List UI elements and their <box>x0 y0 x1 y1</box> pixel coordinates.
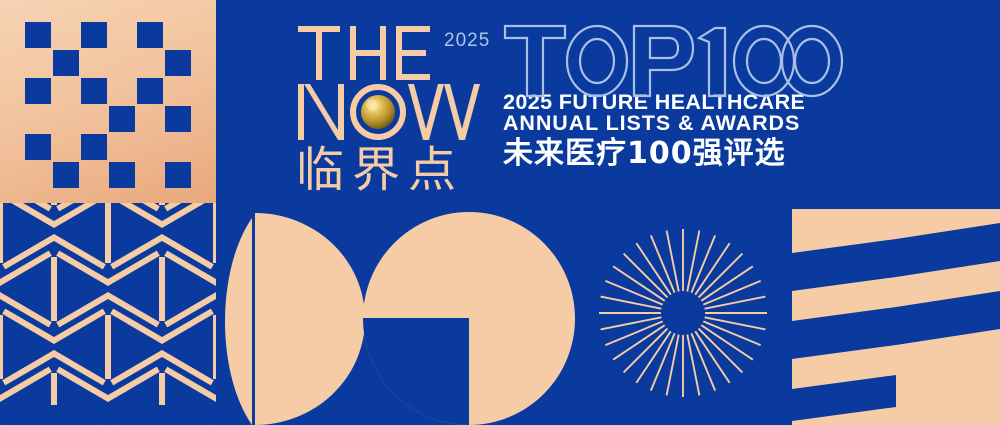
checker-cell <box>165 162 191 188</box>
sunburst-ray <box>601 297 662 309</box>
checker-cell <box>137 22 163 48</box>
sunburst-ray <box>705 317 766 329</box>
checker-cell <box>25 22 51 48</box>
checker-cell <box>25 134 51 160</box>
checkerboard-pattern <box>0 0 216 203</box>
title-block: 2025 FUTURE HEALTHCARE ANNUAL LISTS & AW… <box>503 22 843 171</box>
sunburst-ray <box>687 231 699 292</box>
sunburst-ray <box>705 297 766 309</box>
subtitle-chinese: 未来医疗100强评选 <box>503 137 843 171</box>
checker-cell <box>25 78 51 104</box>
gold-sphere-in-o <box>361 95 395 129</box>
checker-cell <box>53 50 79 76</box>
square-notch <box>363 318 469 425</box>
subtitle-line-2: ANNUAL LISTS & AWARDS <box>503 113 843 134</box>
logo-chinese: 临界点 <box>296 142 464 198</box>
logo-year: 2025 <box>444 30 490 51</box>
sunburst-ray <box>667 335 679 396</box>
sunburst-ray <box>601 317 662 329</box>
checker-cell <box>53 162 79 188</box>
sunburst-rays <box>598 228 768 398</box>
checker-cell <box>109 106 135 132</box>
logo-word-now <box>298 84 480 140</box>
checkerboard-grid <box>25 22 193 190</box>
checker-cell <box>109 162 135 188</box>
checker-cell <box>81 78 107 104</box>
checker-cell <box>81 22 107 48</box>
checker-cell <box>137 78 163 104</box>
circle-with-square-notch <box>363 212 575 425</box>
checker-cell <box>165 106 191 132</box>
chevron-stripe-pattern <box>792 209 1000 425</box>
logo-word-the <box>298 26 430 80</box>
top100-headline <box>503 22 843 96</box>
leaf-lens-shape <box>208 218 254 425</box>
the-now-logo: 2025 <box>296 22 486 192</box>
checker-cell <box>81 134 107 160</box>
checker-cell <box>165 50 191 76</box>
promo-banner: 2025 <box>0 0 1000 425</box>
sunburst-ray <box>667 231 679 292</box>
sunburst-ray <box>687 335 699 396</box>
hexagon-lattice-pattern <box>0 203 216 425</box>
half-circle-shape <box>255 213 365 425</box>
